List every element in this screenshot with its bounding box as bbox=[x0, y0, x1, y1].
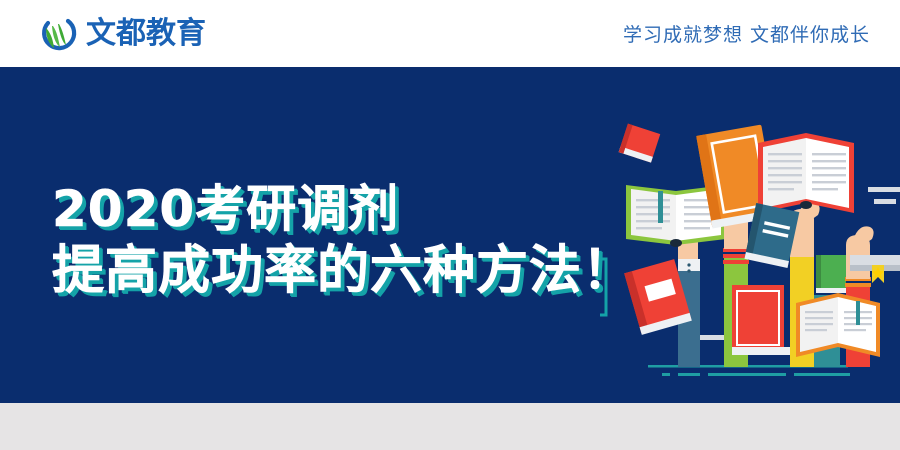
small-green-book bbox=[816, 255, 846, 293]
site-header: 文都教育 学习成就梦想 文都伴你成长 bbox=[0, 0, 900, 67]
small-red-book-top bbox=[619, 124, 661, 163]
header-tagline: 学习成就梦想 文都伴你成长 bbox=[623, 20, 870, 47]
wendu-leaf-circle-logo-icon bbox=[38, 14, 78, 54]
footer-strip bbox=[0, 403, 900, 450]
hero-title-line-2: 提高成功率的六种方法！ bbox=[52, 241, 635, 301]
red-book-upright bbox=[732, 285, 790, 355]
teal-edge-book bbox=[600, 259, 606, 315]
logo-brand-text: 文都教育 bbox=[86, 14, 206, 54]
hero-title: 2020考研调剂 提高成功率的六种方法！ bbox=[52, 179, 635, 301]
open-red-book bbox=[758, 133, 854, 213]
logo[interactable]: 文都教育 bbox=[38, 14, 206, 54]
hands-holding-books-illustration bbox=[600, 107, 900, 403]
hero-banner: 2020考研调剂 提高成功率的六种方法！ bbox=[0, 67, 900, 403]
hero-title-line-1: 2020考研调剂 bbox=[52, 179, 635, 239]
banner-page: 文都教育 学习成就梦想 文都伴你成长 2020考研调剂 提高成功率的六种方法！ bbox=[0, 0, 900, 450]
